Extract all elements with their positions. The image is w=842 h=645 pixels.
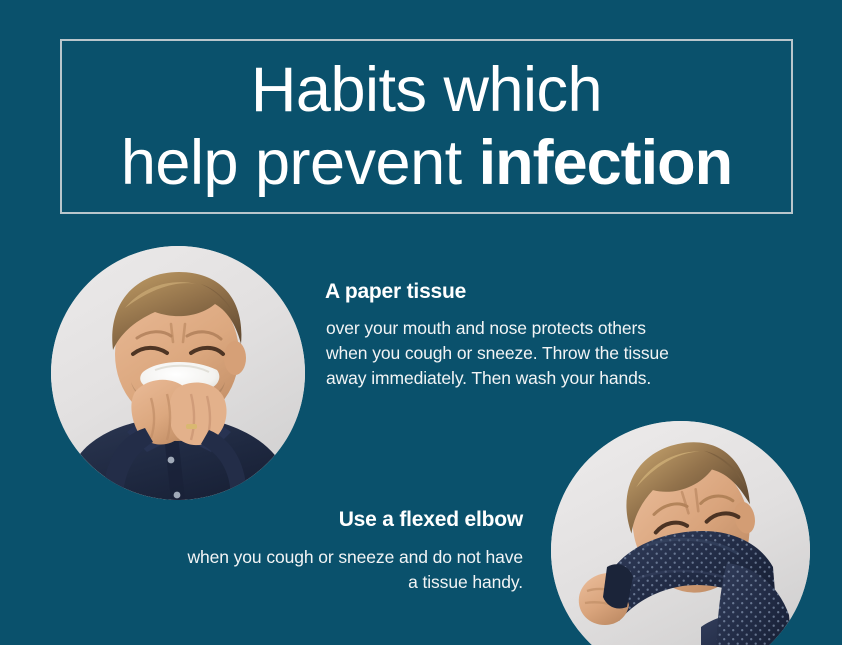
body-line: when you cough or sneeze and do not have	[123, 545, 523, 570]
title-line-1: Habits which	[251, 55, 602, 125]
section-body-flexed-elbow: when you cough or sneeze and do not have…	[123, 545, 523, 595]
body-line: over your mouth and nose protects others	[326, 316, 669, 341]
infographic-poster: Habits which help prevent infection	[0, 0, 842, 645]
title-line-2: help prevent infection	[121, 127, 732, 199]
man-covering-nose-with-tissue-illustration	[51, 246, 305, 500]
section-heading-flexed-elbow: Use a flexed elbow	[290, 507, 523, 533]
section-body-paper-tissue: over your mouth and nose protects others…	[326, 316, 669, 391]
man-sneezing-into-flexed-elbow-illustration	[551, 421, 810, 645]
section-heading-paper-tissue: A paper tissue	[325, 279, 466, 305]
man-sneezing-into-flexed-elbow-photo	[551, 421, 810, 645]
body-line: away immediately. Then wash your hands.	[326, 366, 669, 391]
body-line: a tissue handy.	[123, 570, 523, 595]
body-line: when you cough or sneeze. Throw the tiss…	[326, 341, 669, 366]
man-covering-nose-with-tissue-photo	[51, 246, 305, 500]
title-line-2-emphasis: infection	[479, 128, 733, 198]
poster-title: Habits which help prevent infection	[60, 39, 793, 214]
title-line-2-regular: help prevent	[121, 128, 479, 198]
